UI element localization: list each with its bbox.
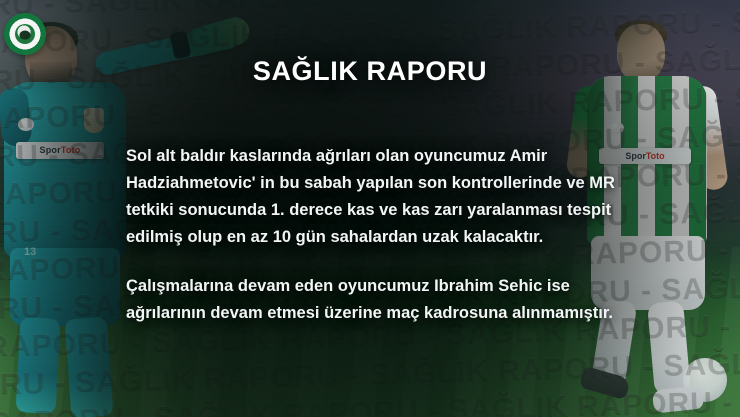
crest-emblem-icon [20, 30, 31, 39]
club-crest-icon [4, 13, 46, 55]
health-report-graphic: SporToto 13 SporToto SAĞLIK RAPORU - SAĞ… [0, 0, 740, 417]
page-title: SAĞLIK RAPORU [0, 56, 740, 87]
paragraph-1: Sol alt baldır kaslarında ağrıları olan … [126, 143, 646, 251]
announcement-body: Sol alt baldır kaslarında ağrıları olan … [126, 143, 646, 327]
paragraph-2: Çalışmalarına devam eden oyuncumuz Ibrah… [126, 273, 646, 327]
